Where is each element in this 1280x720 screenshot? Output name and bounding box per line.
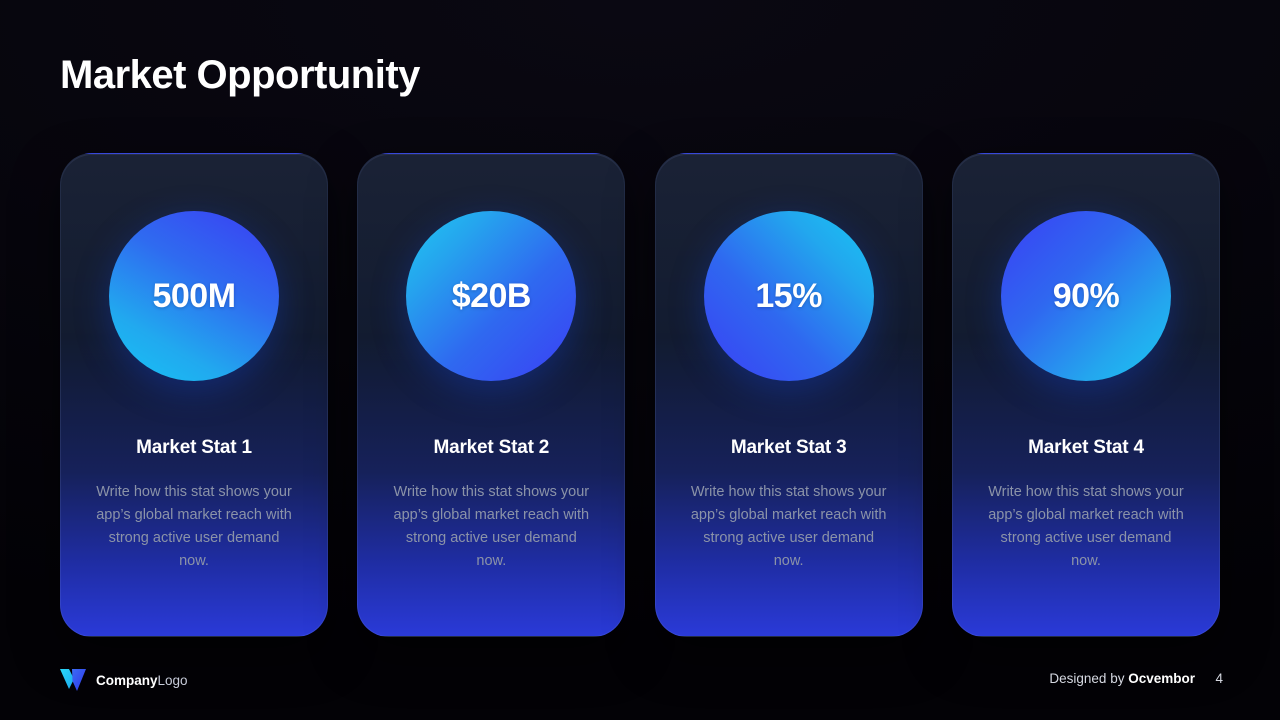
stat-circle-2: $20B (406, 211, 576, 381)
company-chevron-logo-icon (60, 668, 86, 692)
slide-footer: CompanyLogo Designed by Ocvembor 4 (0, 652, 1280, 720)
page-number: 4 (1215, 671, 1223, 686)
stat-value-3: 15% (755, 277, 822, 316)
stat-value-4: 90% (1053, 277, 1120, 316)
designer-credit: Designed by Ocvembor (1049, 671, 1195, 686)
stat-description-1: Write how this stat shows your app’s glo… (94, 481, 294, 573)
stat-card-1[interactable]: 500M Market Stat 1 Write how this stat s… (60, 153, 328, 637)
brand-name-bold: Company (96, 673, 158, 688)
brand-text: CompanyLogo (96, 673, 188, 688)
stat-value-2: $20B (452, 277, 531, 316)
stat-description-2: Write how this stat shows your app’s glo… (391, 481, 591, 573)
stat-name-3: Market Stat 3 (731, 437, 847, 459)
stat-circle-4: 90% (1001, 211, 1171, 381)
brand-lockup: CompanyLogo (60, 668, 188, 692)
page-title: Market Opportunity (60, 53, 420, 98)
stat-circle-3: 15% (704, 211, 874, 381)
stat-description-3: Write how this stat shows your app’s glo… (689, 481, 889, 573)
credit-prefix: Designed by (1049, 671, 1128, 686)
credit-name: Ocvembor (1128, 671, 1195, 686)
stat-value-1: 500M (152, 277, 235, 316)
stat-card-4[interactable]: 90% Market Stat 4 Write how this stat sh… (952, 153, 1220, 637)
stat-card-3[interactable]: 15% Market Stat 3 Write how this stat sh… (655, 153, 923, 637)
brand-name-light: Logo (158, 673, 188, 688)
slide-canvas: Market Opportunity 500M Market Stat 1 Wr… (0, 0, 1280, 720)
stat-circle-1: 500M (109, 211, 279, 381)
stat-description-4: Write how this stat shows your app’s glo… (986, 481, 1186, 573)
stat-name-1: Market Stat 1 (136, 437, 252, 459)
stat-name-2: Market Stat 2 (433, 437, 549, 459)
stat-name-4: Market Stat 4 (1028, 437, 1144, 459)
stat-card-row: 500M Market Stat 1 Write how this stat s… (60, 153, 1220, 637)
stat-card-2[interactable]: $20B Market Stat 2 Write how this stat s… (357, 153, 625, 637)
